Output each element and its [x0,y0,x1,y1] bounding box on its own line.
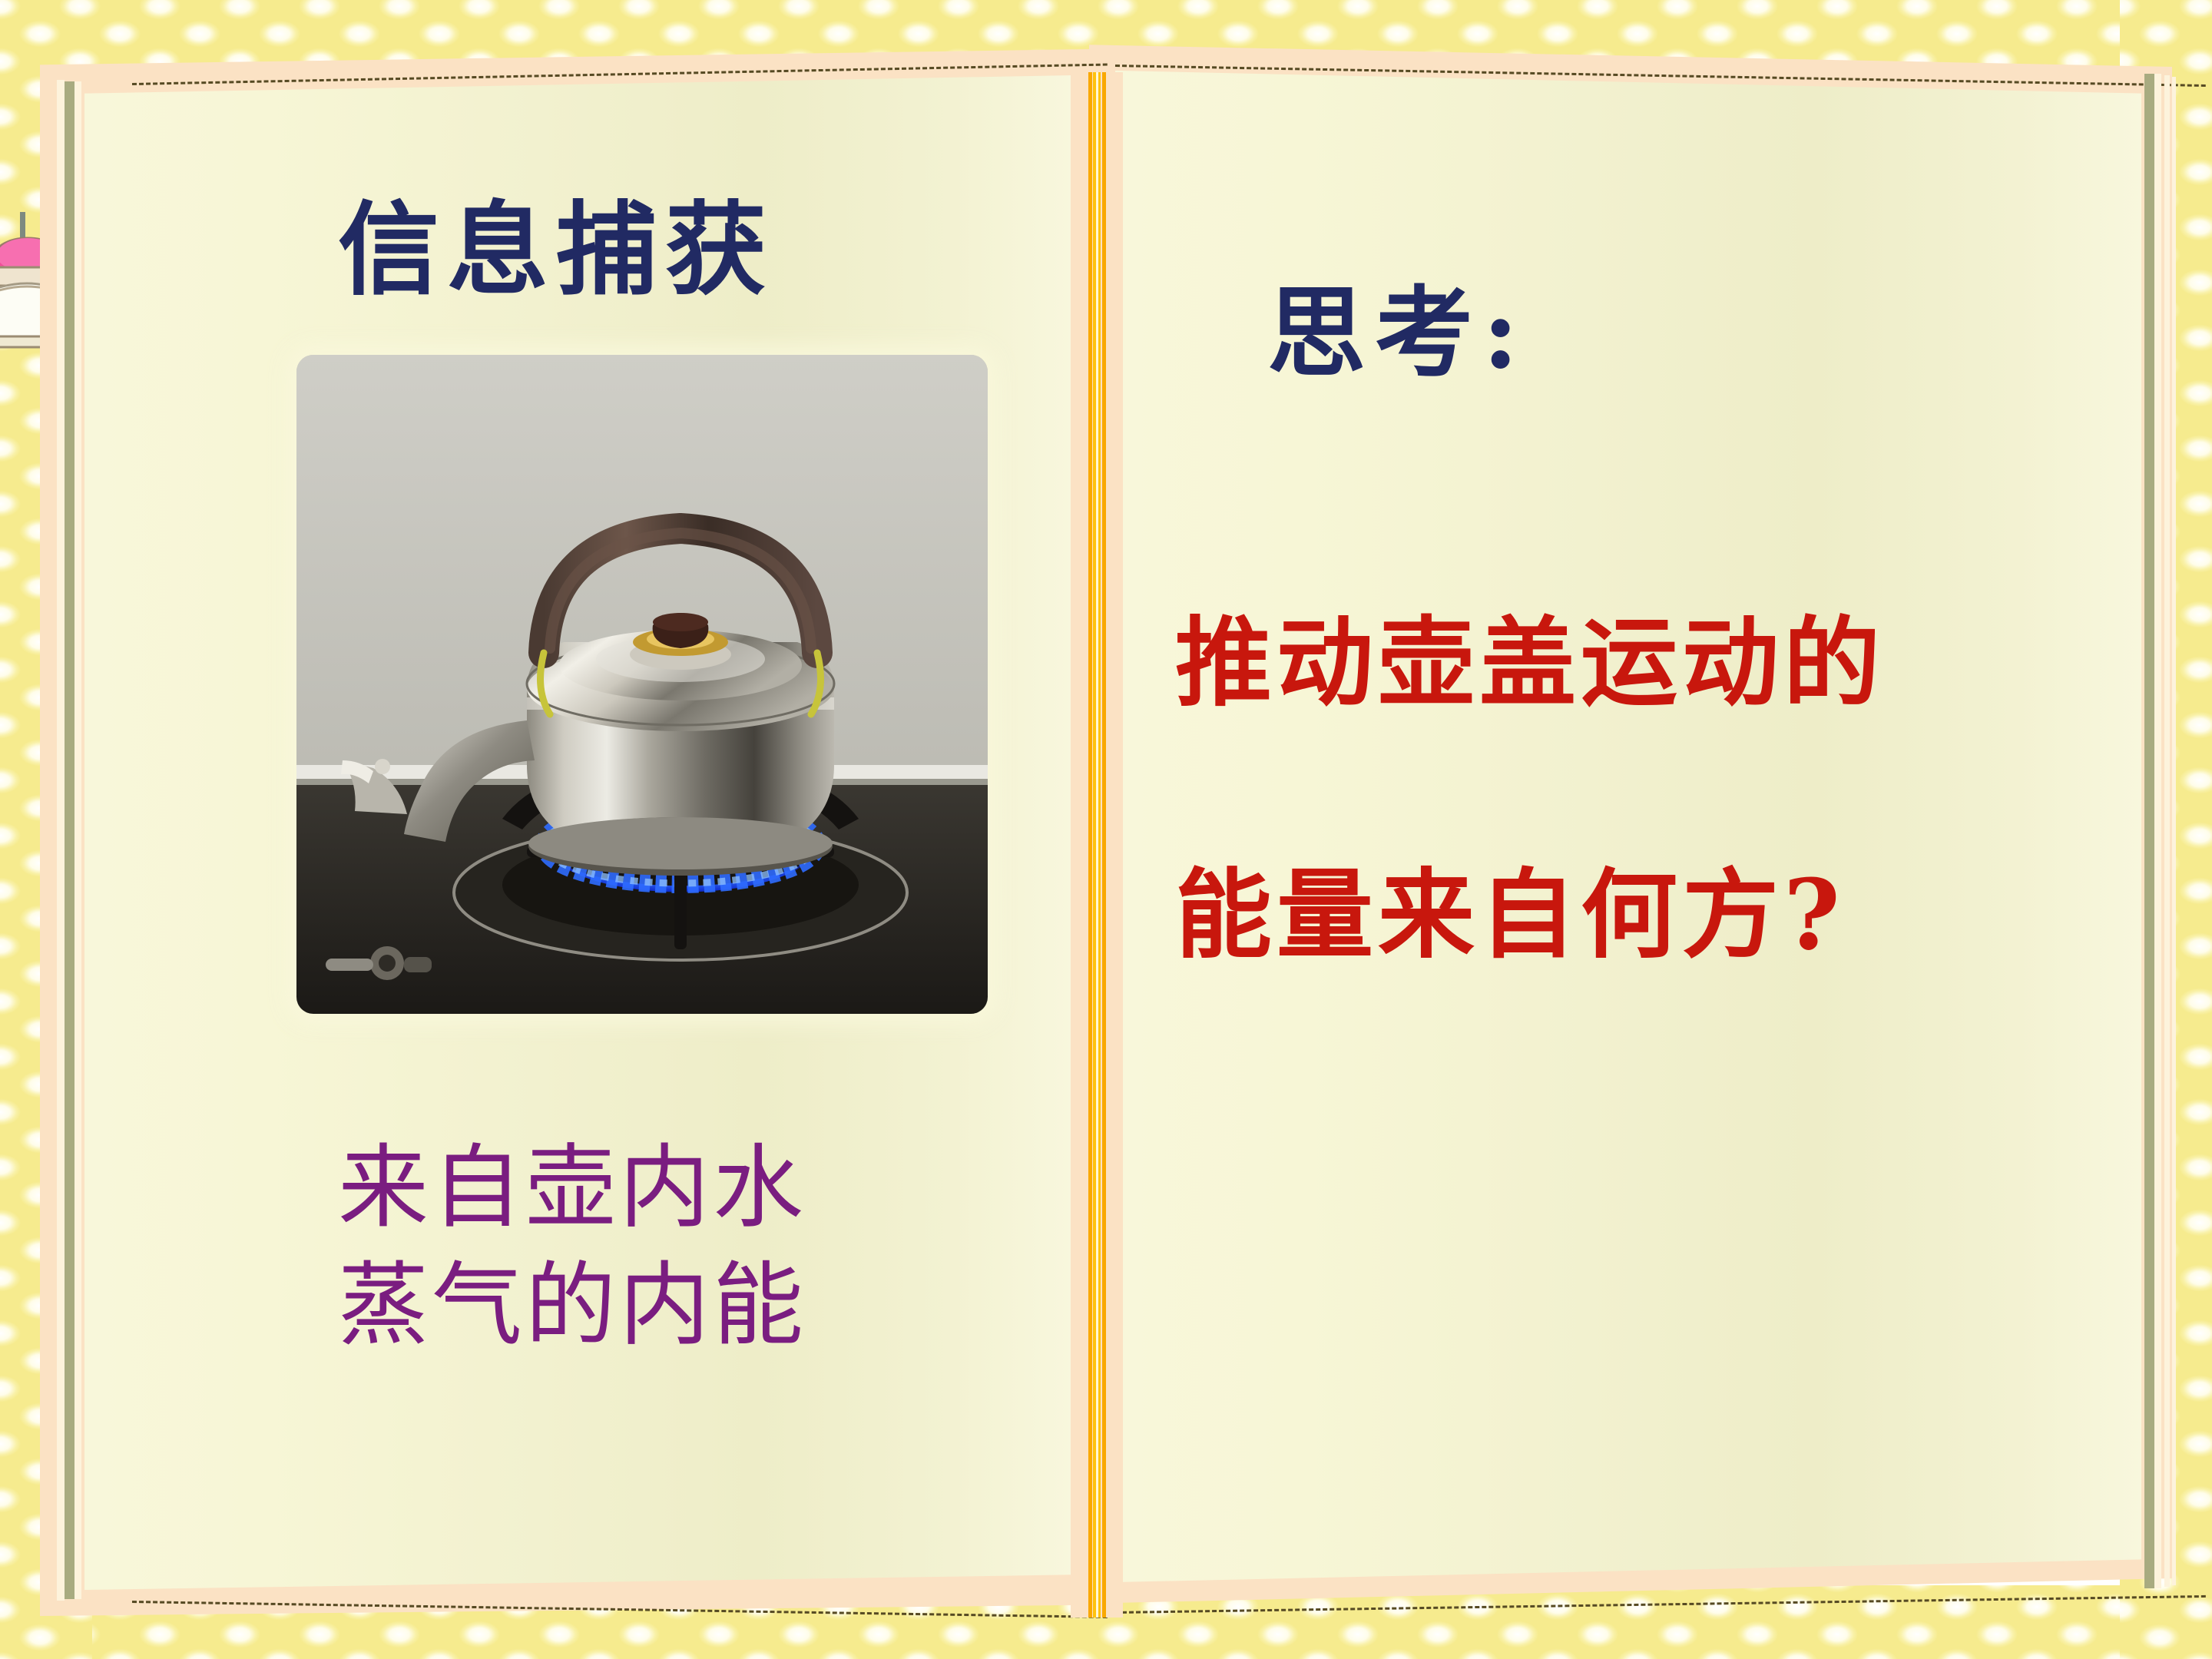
prompt-label: 思考: [1267,253,1528,396]
spine-amber-left [1088,72,1092,1618]
kettle-on-stove-illustration [296,355,988,1014]
question-line-2: 能量来自何方? [1175,790,2081,1041]
photo-caption: 来自壶内水 蒸气的内能 [338,1129,968,1365]
spine-amber-right [1102,72,1106,1618]
binding-rail-right-cream-inner [2154,74,2161,1588]
spine-highlight [1096,72,1098,1618]
kettle-photo [296,355,988,1014]
binding-rail-left-green [65,81,75,1599]
binding-rail-left-cream-inner [75,81,81,1599]
binding-rail-left-cream-outer [57,80,65,1601]
binding-rail-right-cream-outer [2172,77,2176,1585]
slide-canvas: 信息捕获 [0,0,2212,1659]
page-title: 信息捕获 [338,194,891,307]
binding-rail-right-cream-middle [2164,75,2170,1587]
question-line-1: 推动壶盖运动的 [1175,538,2081,790]
caption-line-1: 来自壶内水 [338,1129,968,1247]
question-text: 推动壶盖运动的 能量来自何方? [1175,538,2081,1041]
binding-rail-right-green [2144,74,2154,1588]
caption-line-2: 蒸气的内能 [338,1247,968,1364]
book-spine [1071,72,1123,1618]
